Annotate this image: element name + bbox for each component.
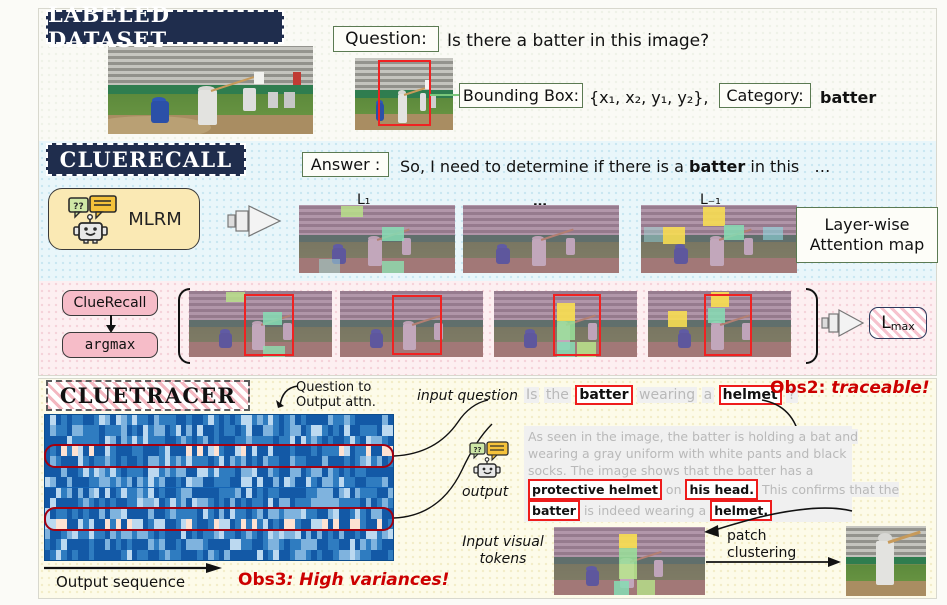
input-visual-tokens-line2: tokens	[480, 551, 527, 567]
obs3-annotation: Obs3: High variances!	[238, 570, 449, 590]
input-visual-tokens-line1: Input visual	[462, 534, 544, 550]
lmax-box: Lmax	[869, 307, 927, 339]
cluerecall-method-label: ClueRecall	[74, 295, 147, 311]
heatmap-caption-pointer	[274, 382, 300, 412]
category-value: batter	[820, 88, 876, 107]
answer-ellipsis: …	[814, 157, 830, 176]
question-text: Is there a batter in this image?	[447, 31, 709, 51]
candidate-box-3	[553, 294, 601, 356]
answer-text-pre: So, I need to determine if there is a	[400, 157, 689, 176]
bounding-box-label-text: Bounding Box:	[463, 86, 579, 105]
lmax-label: L	[881, 313, 890, 333]
question-token: a	[702, 387, 715, 403]
section-title-labeled-dataset-text: LABELED DATASET	[48, 2, 282, 52]
output-token-highlight: protective helmet	[528, 479, 662, 500]
clustered-patch-crop	[846, 526, 926, 596]
section-cluerecall-bottom-background	[38, 281, 937, 376]
section-title-cluetracer: CLUETRACER	[46, 380, 250, 411]
ground-truth-bounding-box	[378, 60, 431, 126]
output-token: is indeed wearing a	[580, 503, 710, 518]
section-title-labeled-dataset: LABELED DATASET	[46, 10, 284, 44]
question-token: the	[544, 387, 571, 403]
output-token: This confirms that the	[758, 482, 899, 497]
input-question-label: input question	[417, 388, 518, 404]
patch-clustering-line1: patch	[727, 528, 767, 544]
obs3-prefix: Obs3	[238, 570, 287, 590]
output-token-highlight: batter	[528, 500, 580, 521]
mlrm-to-attention-arrow	[228, 206, 284, 236]
candidate-bracket-right	[806, 288, 818, 364]
figure-root: LABELED DATASET Question: Is there a bat…	[0, 0, 947, 605]
output-sequence-label: Output sequence	[56, 573, 185, 591]
mlrm-robot-icon: ??	[66, 194, 124, 244]
output-text-line: As seen in the image, the batter is hold…	[528, 428, 848, 445]
obs2-annotation: Obs2: traceable!	[770, 378, 930, 398]
obs3-text: : High variances!	[287, 570, 450, 590]
question-token: wearing	[637, 387, 697, 403]
heatmap-cell	[388, 529, 393, 539]
output-token-highlight: his head.	[685, 479, 757, 500]
answer-label: Answer :	[302, 152, 389, 177]
input-visual-tokens-map	[554, 527, 705, 595]
output-token: socks. The image shows that the batter h…	[528, 463, 813, 478]
heatmap-caption-line2: Output attn.	[296, 395, 376, 410]
answer-text-bold: batter	[689, 157, 745, 176]
section-title-cluetracer-text: CLUETRACER	[60, 383, 236, 408]
attention-map-L1	[299, 205, 455, 273]
bounding-box-label: Bounding Box:	[459, 83, 583, 108]
answer-text-post: in this	[745, 157, 799, 176]
output-text-line: protective helmet on his head. This conf…	[528, 479, 848, 500]
obs2-text: traceable!	[831, 378, 929, 398]
section-title-cluerecall-text: CLUERECALL	[60, 147, 233, 172]
argmax-label: argmax	[85, 337, 136, 353]
candidate-box-1	[244, 294, 294, 356]
output-token: As seen in the image, the batter is hold…	[528, 429, 858, 444]
heatmap-cell	[388, 539, 393, 549]
obs2-prefix: Obs2:	[770, 378, 825, 398]
bounding-box-value: {x₁, x₂, y₁, y₂},	[589, 88, 709, 107]
output-text-line: wearing a gray uniform with white pants …	[528, 445, 848, 462]
category-label: Category:	[719, 83, 811, 108]
patch-clustering-line2: clustering	[727, 545, 796, 561]
heatmap-cell	[388, 550, 393, 560]
mlrm-model-box: ?? MLRM	[48, 188, 200, 250]
output-token: on	[662, 482, 686, 497]
output-label: output	[462, 484, 508, 500]
lmax-subscript: max	[891, 320, 915, 333]
input-visual-tokens-label: Input visual tokens	[458, 534, 548, 568]
argmax-box: argmax	[62, 332, 158, 358]
patch-clustering-label: patch clustering	[727, 528, 796, 562]
answer-text: So, I need to determine if there is a ba…	[400, 157, 830, 176]
dataset-source-photo	[108, 46, 313, 134]
candidate-box-2	[392, 295, 442, 355]
heatmap-highlight-row-2	[44, 507, 394, 531]
category-label-text: Category:	[726, 86, 803, 105]
attention-map-middle	[463, 205, 619, 273]
question-token-highlight: batter	[575, 385, 632, 405]
heatmap-highlight-row-1	[44, 444, 394, 468]
layerwise-label-line1: Layer-wise	[824, 215, 909, 235]
heatmap-caption: Question to Output attn.	[296, 380, 376, 410]
output-token: wearing a gray uniform with white pants …	[528, 446, 846, 461]
input-question-tokens: Is the batter wearing a helmet ?	[524, 385, 798, 405]
svg-text:??: ??	[473, 446, 481, 454]
output-text-line: socks. The image shows that the batter h…	[528, 462, 848, 479]
question-label-text: Question:	[345, 29, 427, 49]
layerwise-label-line2: Attention map	[810, 235, 924, 255]
output-robot-icon: ??	[468, 442, 512, 482]
attention-map-Llast	[641, 205, 797, 273]
section-title-cluerecall: CLUERECALL	[46, 143, 246, 176]
layerwise-attention-map-label: Layer-wise Attention map	[796, 207, 938, 263]
answer-label-text: Answer :	[311, 155, 380, 174]
question-label: Question:	[333, 26, 439, 52]
candidate-box-4	[704, 294, 752, 356]
heatmap-caption-line1: Question to	[296, 380, 371, 395]
svg-text:??: ??	[73, 202, 83, 212]
question-to-output-attention-heatmap	[44, 414, 394, 561]
cluerecall-method-box: ClueRecall	[62, 290, 158, 316]
mlrm-model-label: MLRM	[128, 209, 182, 230]
argmax-to-lmax-arrow	[822, 310, 866, 336]
cluerecall-to-argmax-arrow	[104, 315, 118, 333]
question-token: Is	[524, 387, 539, 403]
